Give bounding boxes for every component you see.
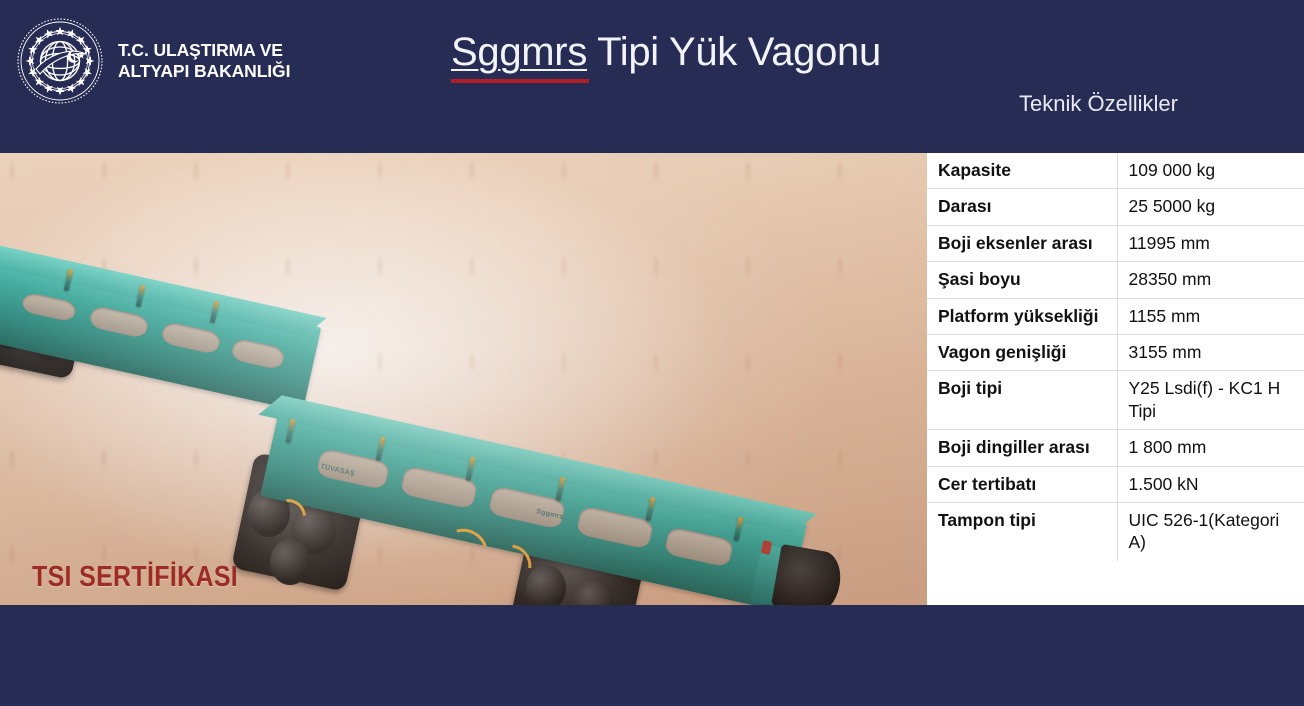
spec-value: 25 5000 kg: [1117, 189, 1304, 225]
spec-key: Darası: [927, 189, 1117, 225]
page-title: Sggmrs Tipi Yük Vagonu: [451, 30, 881, 75]
technical-specs-body: Kapasite 109 000 kg Darası 25 5000 kg Bo…: [927, 153, 1304, 561]
header-band: T.C. ULAŞTIRMA VE ALTYAPI BAKANLIĞI Sggm…: [0, 0, 1304, 153]
wagon-photo: TÜVASAŞ Sggmrs TSI SERTİFİKASI: [0, 153, 928, 605]
table-row: Şasi boyu 28350 mm: [927, 262, 1304, 298]
spec-value: 3155 mm: [1117, 334, 1304, 370]
tsi-certificate-caption: TSI SERTİFİKASI: [32, 561, 238, 594]
spec-key: Boji eksenler arası: [927, 225, 1117, 261]
slide: T.C. ULAŞTIRMA VE ALTYAPI BAKANLIĞI Sggm…: [0, 0, 1304, 706]
spec-key: Tampon tipi: [927, 502, 1117, 560]
spec-key: Cer tertibatı: [927, 466, 1117, 502]
technical-specs-table: Kapasite 109 000 kg Darası 25 5000 kg Bo…: [927, 153, 1304, 561]
spec-key: Kapasite: [927, 153, 1117, 189]
table-row: Boji tipi Y25 Lsdi(f) - KC1 H Tipi: [927, 371, 1304, 430]
table-row: Darası 25 5000 kg: [927, 189, 1304, 225]
spec-value: 1 800 mm: [1117, 430, 1304, 466]
spec-key: Boji dingiller arası: [927, 430, 1117, 466]
spec-key: Vagon genişliği: [927, 334, 1117, 370]
table-row: Vagon genişliği 3155 mm: [927, 334, 1304, 370]
spec-value: UIC 526-1(Kategori A): [1117, 502, 1304, 560]
spec-value: 1.500 kN: [1117, 466, 1304, 502]
table-row: Cer tertibatı 1.500 kN: [927, 466, 1304, 502]
table-row: Boji eksenler arası 11995 mm: [927, 225, 1304, 261]
table-row: Boji dingiller arası 1 800 mm: [927, 430, 1304, 466]
table-row: Kapasite 109 000 kg: [927, 153, 1304, 189]
spec-value: 28350 mm: [1117, 262, 1304, 298]
spec-value: 1155 mm: [1117, 298, 1304, 334]
spec-key: Boji tipi: [927, 371, 1117, 430]
ministry-globe-crescent-emblem: [16, 17, 104, 105]
page-title-rest: Tipi Yük Vagonu: [587, 30, 881, 74]
ministry-brand: T.C. ULAŞTIRMA VE ALTYAPI BAKANLIĞI: [16, 16, 436, 106]
spec-value: 11995 mm: [1117, 225, 1304, 261]
table-row: Platform yüksekliği 1155 mm: [927, 298, 1304, 334]
photo-lighting-overlay: [0, 153, 928, 605]
ministry-name: T.C. ULAŞTIRMA VE ALTYAPI BAKANLIĞI: [118, 40, 290, 81]
spec-value: Y25 Lsdi(f) - KC1 H Tipi: [1117, 371, 1304, 430]
spec-key: Platform yüksekliği: [927, 298, 1117, 334]
misspelled-word: Sggmrs: [451, 30, 587, 74]
technical-specs-panel: Kapasite 109 000 kg Darası 25 5000 kg Bo…: [927, 153, 1304, 611]
footer-band: [0, 605, 1304, 706]
page-subtitle: Teknik Özellikler: [1019, 91, 1178, 117]
spec-key: Şasi boyu: [927, 262, 1117, 298]
table-row: Tampon tipi UIC 526-1(Kategori A): [927, 502, 1304, 560]
spec-value: 109 000 kg: [1117, 153, 1304, 189]
